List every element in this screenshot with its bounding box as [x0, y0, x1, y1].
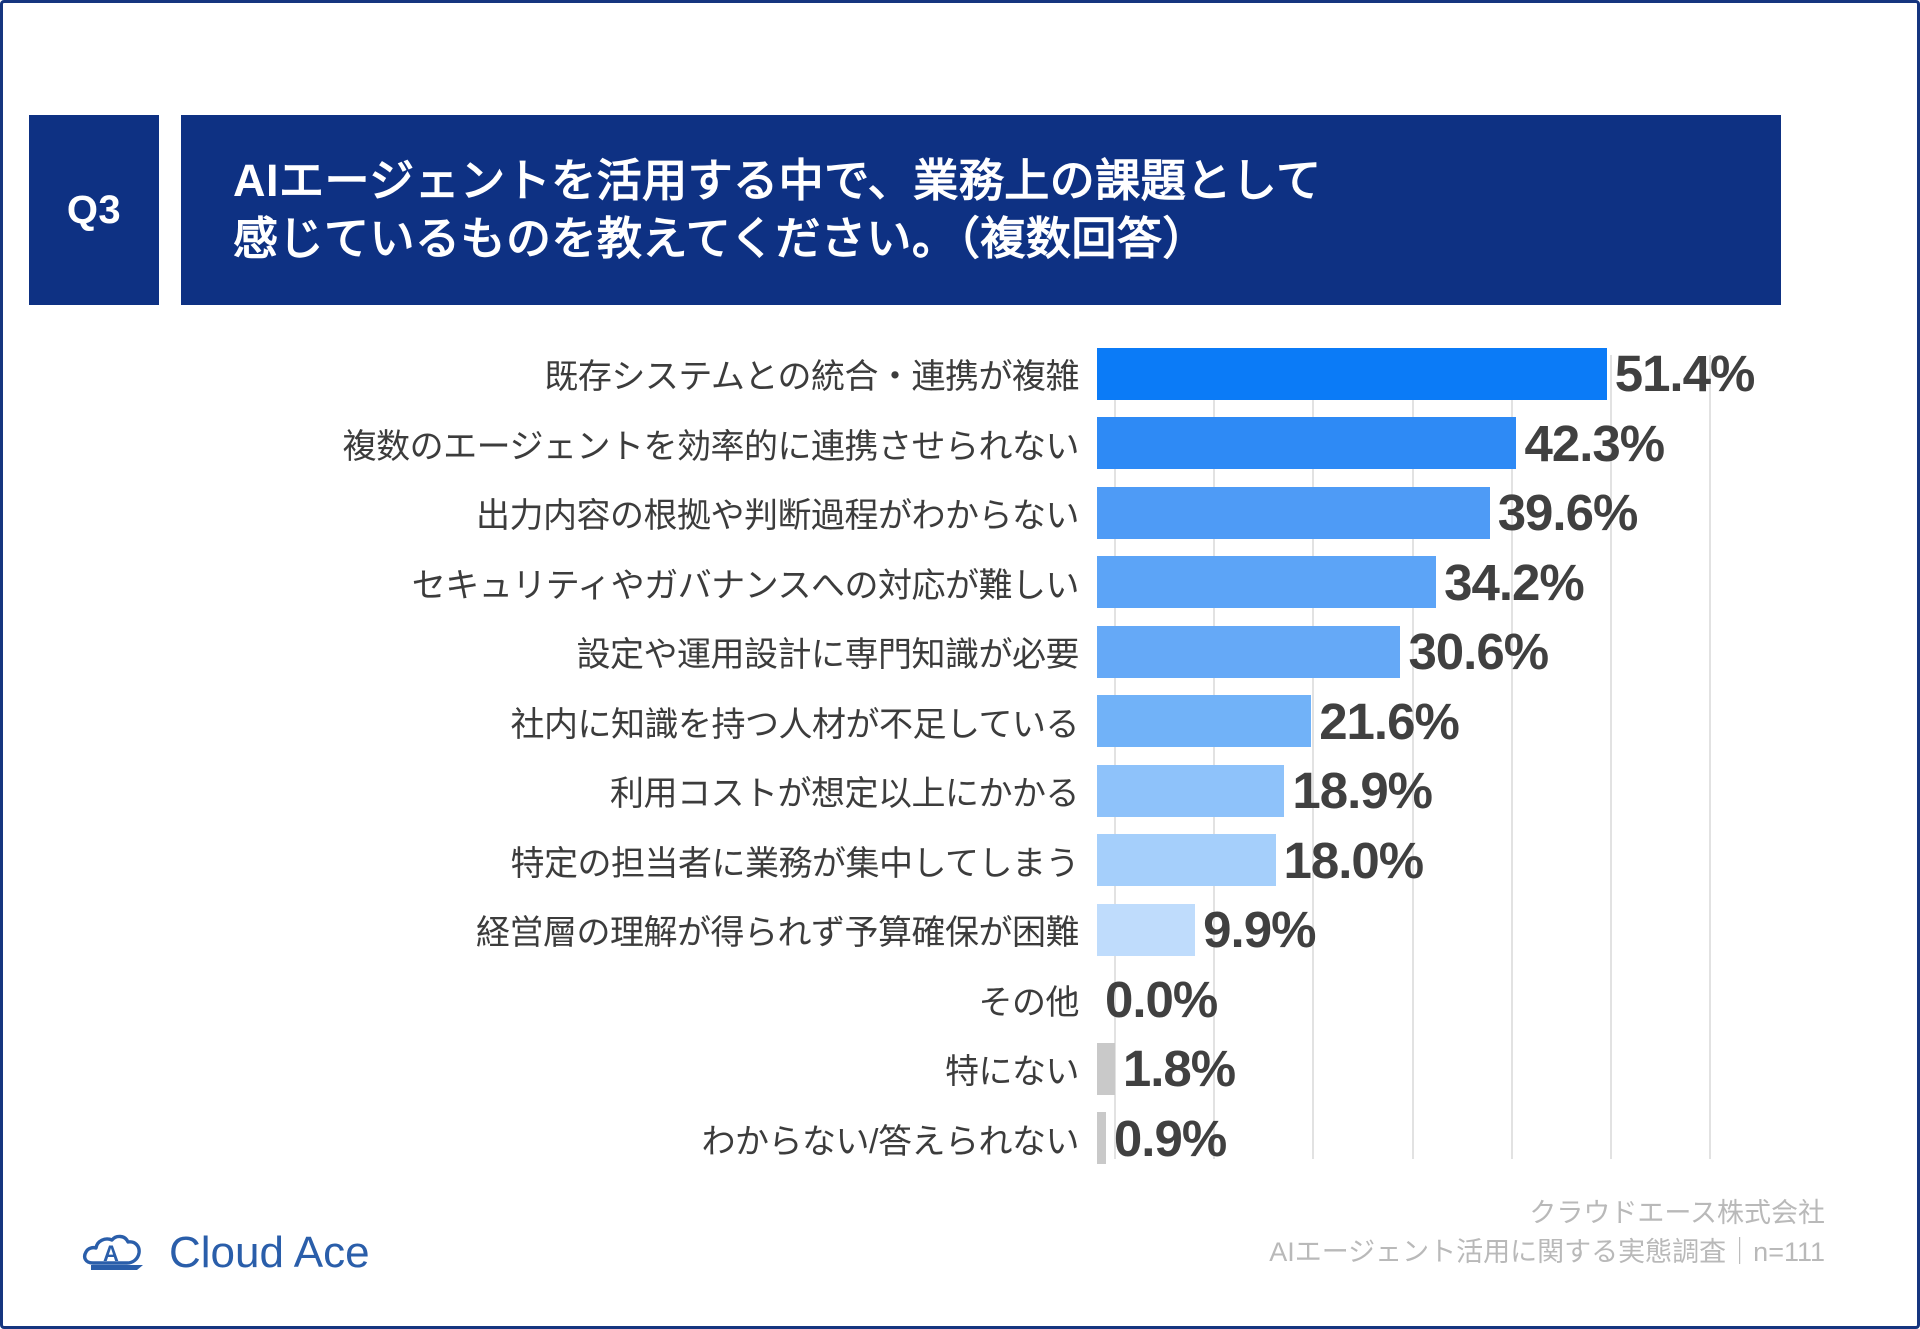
- bar: [1097, 765, 1284, 817]
- chart-row: 複数のエージェントを効率的に連携させられない42.3%: [29, 409, 1789, 479]
- chart-row: 社内に知識を持つ人材が不足している21.6%: [29, 687, 1789, 757]
- category-label: セキュリティやガバナンスへの対応が難しい: [29, 558, 1097, 607]
- question-header: Q3 AIエージェントを活用する中で、業務上の課題として 感じているものを教えて…: [29, 115, 1781, 305]
- survey-name: AIエージェント活用に関する実態調査｜n=111: [1269, 1233, 1825, 1272]
- bar-area: 51.4%: [1097, 339, 1789, 409]
- bar: [1097, 417, 1516, 469]
- category-label: 特にない: [29, 1044, 1097, 1093]
- category-label: 出力内容の根拠や判断過程がわからない: [29, 488, 1097, 537]
- category-label: 既存システムとの統合・連携が複雑: [29, 349, 1097, 398]
- bar: [1097, 1112, 1106, 1164]
- chart-rows: 既存システムとの統合・連携が複雑51.4%複数のエージェントを効率的に連携させら…: [29, 339, 1789, 1173]
- chart-row: わからない/答えられない0.9%: [29, 1104, 1789, 1174]
- bar: [1097, 695, 1311, 747]
- chart-row: 既存システムとの統合・連携が複雑51.4%: [29, 339, 1789, 409]
- bar-value-label: 18.9%: [1292, 765, 1432, 816]
- question-title-line-1: AIエージェントを活用する中で、業務上の課題として: [233, 152, 1781, 211]
- chart-row: 設定や運用設計に専門知識が必要30.6%: [29, 617, 1789, 687]
- chart-row: 利用コストが想定以上にかかる18.9%: [29, 756, 1789, 826]
- chart-row: 出力内容の根拠や判断過程がわからない39.6%: [29, 478, 1789, 548]
- bar-area: 21.6%: [1097, 687, 1789, 757]
- bar-value-label: 21.6%: [1319, 696, 1459, 747]
- category-label: 特定の担当者に業務が集中してしまう: [29, 836, 1097, 885]
- bar-area: 30.6%: [1097, 617, 1789, 687]
- bar: [1097, 348, 1607, 400]
- bar: [1097, 1043, 1115, 1095]
- chart-row: その他0.0%: [29, 965, 1789, 1035]
- credits-block: クラウドエース株式会社 AIエージェント活用に関する実態調査｜n=111: [1269, 1194, 1825, 1272]
- cloud-ace-logo: A Cloud Ace: [81, 1228, 370, 1278]
- category-label: わからない/答えられない: [29, 1114, 1097, 1163]
- bar: [1097, 556, 1436, 608]
- slide-root: Q3 AIエージェントを活用する中で、業務上の課題として 感じているものを教えて…: [0, 0, 1920, 1329]
- chart-row: 経営層の理解が得られず予算確保が困難9.9%: [29, 895, 1789, 965]
- bar-chart: 既存システムとの統合・連携が複雑51.4%複数のエージェントを効率的に連携させら…: [29, 339, 1789, 1175]
- bar-value-label: 9.9%: [1203, 904, 1315, 955]
- cloud-logo-icon: A: [81, 1229, 155, 1277]
- category-label: その他: [29, 975, 1097, 1024]
- question-title-block: AIエージェントを活用する中で、業務上の課題として 感じているものを教えてくださ…: [181, 115, 1781, 305]
- bar: [1097, 904, 1195, 956]
- bar-value-label: 30.6%: [1408, 626, 1548, 677]
- category-label: 社内に知識を持つ人材が不足している: [29, 697, 1097, 746]
- bar: [1097, 834, 1276, 886]
- bar-area: 9.9%: [1097, 895, 1789, 965]
- cloud-ace-wordmark: Cloud Ace: [169, 1228, 370, 1278]
- question-number-badge: Q3: [29, 115, 159, 305]
- chart-row: 特にない1.8%: [29, 1034, 1789, 1104]
- bar-value-label: 0.9%: [1114, 1113, 1226, 1164]
- chart-row: セキュリティやガバナンスへの対応が難しい34.2%: [29, 548, 1789, 618]
- bar-value-label: 34.2%: [1444, 557, 1584, 608]
- category-label: 利用コストが想定以上にかかる: [29, 766, 1097, 815]
- bar-value-label: 18.0%: [1284, 835, 1424, 886]
- chart-row: 特定の担当者に業務が集中してしまう18.0%: [29, 826, 1789, 896]
- bar-value-label: 42.3%: [1524, 418, 1664, 469]
- category-label: 設定や運用設計に専門知識が必要: [29, 627, 1097, 676]
- bar-area: 0.9%: [1097, 1104, 1789, 1174]
- company-name: クラウドエース株式会社: [1269, 1194, 1825, 1233]
- bar-area: 39.6%: [1097, 478, 1789, 548]
- bar-value-label: 1.8%: [1123, 1043, 1235, 1094]
- svg-text:A: A: [103, 1241, 119, 1266]
- bar-value-label: 51.4%: [1615, 348, 1755, 399]
- bar-area: 18.0%: [1097, 826, 1789, 896]
- header-gap: [159, 115, 181, 305]
- category-label: 経営層の理解が得られず予算確保が困難: [29, 905, 1097, 954]
- bar-area: 1.8%: [1097, 1034, 1789, 1104]
- question-title-line-2: 感じているものを教えてください。（複数回答）: [233, 210, 1781, 269]
- category-label: 複数のエージェントを効率的に連携させられない: [29, 419, 1097, 468]
- question-number-label: Q3: [67, 188, 121, 233]
- bar-area: 34.2%: [1097, 548, 1789, 618]
- bar: [1097, 626, 1400, 678]
- bar: [1097, 487, 1490, 539]
- bar-value-label: 0.0%: [1105, 974, 1217, 1025]
- bar-value-label: 39.6%: [1498, 487, 1638, 538]
- bar-area: 18.9%: [1097, 756, 1789, 826]
- bar-area: 42.3%: [1097, 409, 1789, 479]
- bar-area: 0.0%: [1097, 965, 1789, 1035]
